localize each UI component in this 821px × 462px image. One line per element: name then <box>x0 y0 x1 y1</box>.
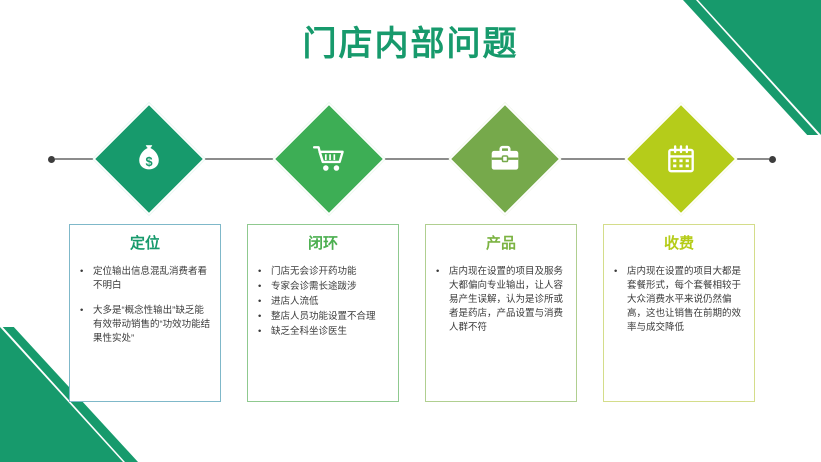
list-item-text: 进店人流低 <box>271 296 319 307</box>
card-2[interactable]: 闭环 •门店无会诊开药功能 •专家会诊需长途跋涉 •进店人流低 •整店人员功能设… <box>247 224 399 402</box>
card-1-bullets: •定位输出信息混乱消费者看不明白 •大多是“概念性输出”缺乏能有效带动销售的“功… <box>77 265 213 346</box>
step-diamond-2[interactable] <box>280 110 378 208</box>
briefcase-icon <box>488 142 522 176</box>
bullet-marker: • <box>258 295 261 309</box>
bullet-marker: • <box>436 265 439 279</box>
card-3-bullets: •店内现在设置的项目及服务大都偏向专业输出，让人容易产生误解，认为是诊所或者是药… <box>433 265 569 335</box>
step-diamond-1[interactable]: $ <box>100 110 198 208</box>
step-diamond-4[interactable] <box>632 110 730 208</box>
card-4[interactable]: 收费 •店内现在设置的项目大都是套餐形式，每个套餐相较于大众消费水平来说仍然偏高… <box>603 224 755 402</box>
card-3[interactable]: 产品 •店内现在设置的项目及服务大都偏向专业输出，让人容易产生误解，认为是诊所或… <box>425 224 577 402</box>
list-item: •缺乏全科坐诊医生 <box>255 325 391 339</box>
shopping-cart-icon <box>312 142 346 176</box>
list-item-text: 大多是“概念性输出”缺乏能有效带动销售的“功效功能结果性实处” <box>93 305 210 344</box>
list-item: •整店人员功能设置不合理 <box>255 310 391 324</box>
bullet-marker: • <box>258 280 261 294</box>
list-item: •定位输出信息混乱消费者看不明白 <box>77 265 213 293</box>
page-title: 门店内部问题 <box>0 22 821 66</box>
list-item-text: 专家会诊需长途跋涉 <box>271 281 357 292</box>
list-item: •专家会诊需长途跋涉 <box>255 280 391 294</box>
bullet-marker: • <box>80 265 83 279</box>
list-item-text: 门店无会诊开药功能 <box>271 266 357 277</box>
card-3-title: 产品 <box>433 233 569 255</box>
money-bag-icon: $ <box>132 142 166 176</box>
list-item-text: 整店人员功能设置不合理 <box>271 311 376 322</box>
list-item-text: 店内现在设置的项目及服务大都偏向专业输出，让人容易产生误解，认为是诊所或者是药店… <box>449 266 563 333</box>
slide-canvas: 门店内部问题 $ <box>0 0 821 462</box>
card-2-title: 闭环 <box>255 233 391 255</box>
card-2-bullets: •门店无会诊开药功能 •专家会诊需长途跋涉 •进店人流低 •整店人员功能设置不合… <box>255 265 391 339</box>
svg-text:$: $ <box>145 154 152 169</box>
card-4-bullets: •店内现在设置的项目大都是套餐形式，每个套餐相较于大众消费水平来说仍然偏高，这也… <box>611 265 747 335</box>
card-row: 定位 •定位输出信息混乱消费者看不明白 •大多是“概念性输出”缺乏能有效带动销售… <box>0 224 821 404</box>
card-4-title: 收费 <box>611 233 747 255</box>
calendar-icon <box>664 142 698 176</box>
bullet-marker: • <box>258 325 261 339</box>
bullet-marker: • <box>80 304 83 318</box>
card-1-title: 定位 <box>77 233 213 255</box>
step-diamond-3[interactable] <box>456 110 554 208</box>
list-item: •店内现在设置的项目及服务大都偏向专业输出，让人容易产生误解，认为是诊所或者是药… <box>433 265 569 335</box>
bullet-marker: • <box>258 265 261 279</box>
list-item: •店内现在设置的项目大都是套餐形式，每个套餐相较于大众消费水平来说仍然偏高，这也… <box>611 265 747 335</box>
list-item: •大多是“概念性输出”缺乏能有效带动销售的“功效功能结果性实处” <box>77 304 213 346</box>
list-item-text: 定位输出信息混乱消费者看不明白 <box>93 266 207 291</box>
bullet-marker: • <box>614 265 617 279</box>
list-item-text: 缺乏全科坐诊医生 <box>271 326 347 337</box>
list-item: •门店无会诊开药功能 <box>255 265 391 279</box>
list-item-text: 店内现在设置的项目大都是套餐形式，每个套餐相较于大众消费水平来说仍然偏高，这也让… <box>627 266 741 333</box>
bullet-marker: • <box>258 310 261 324</box>
card-1[interactable]: 定位 •定位输出信息混乱消费者看不明白 •大多是“概念性输出”缺乏能有效带动销售… <box>69 224 221 402</box>
diamond-row: $ <box>0 110 821 214</box>
list-item: •进店人流低 <box>255 295 391 309</box>
